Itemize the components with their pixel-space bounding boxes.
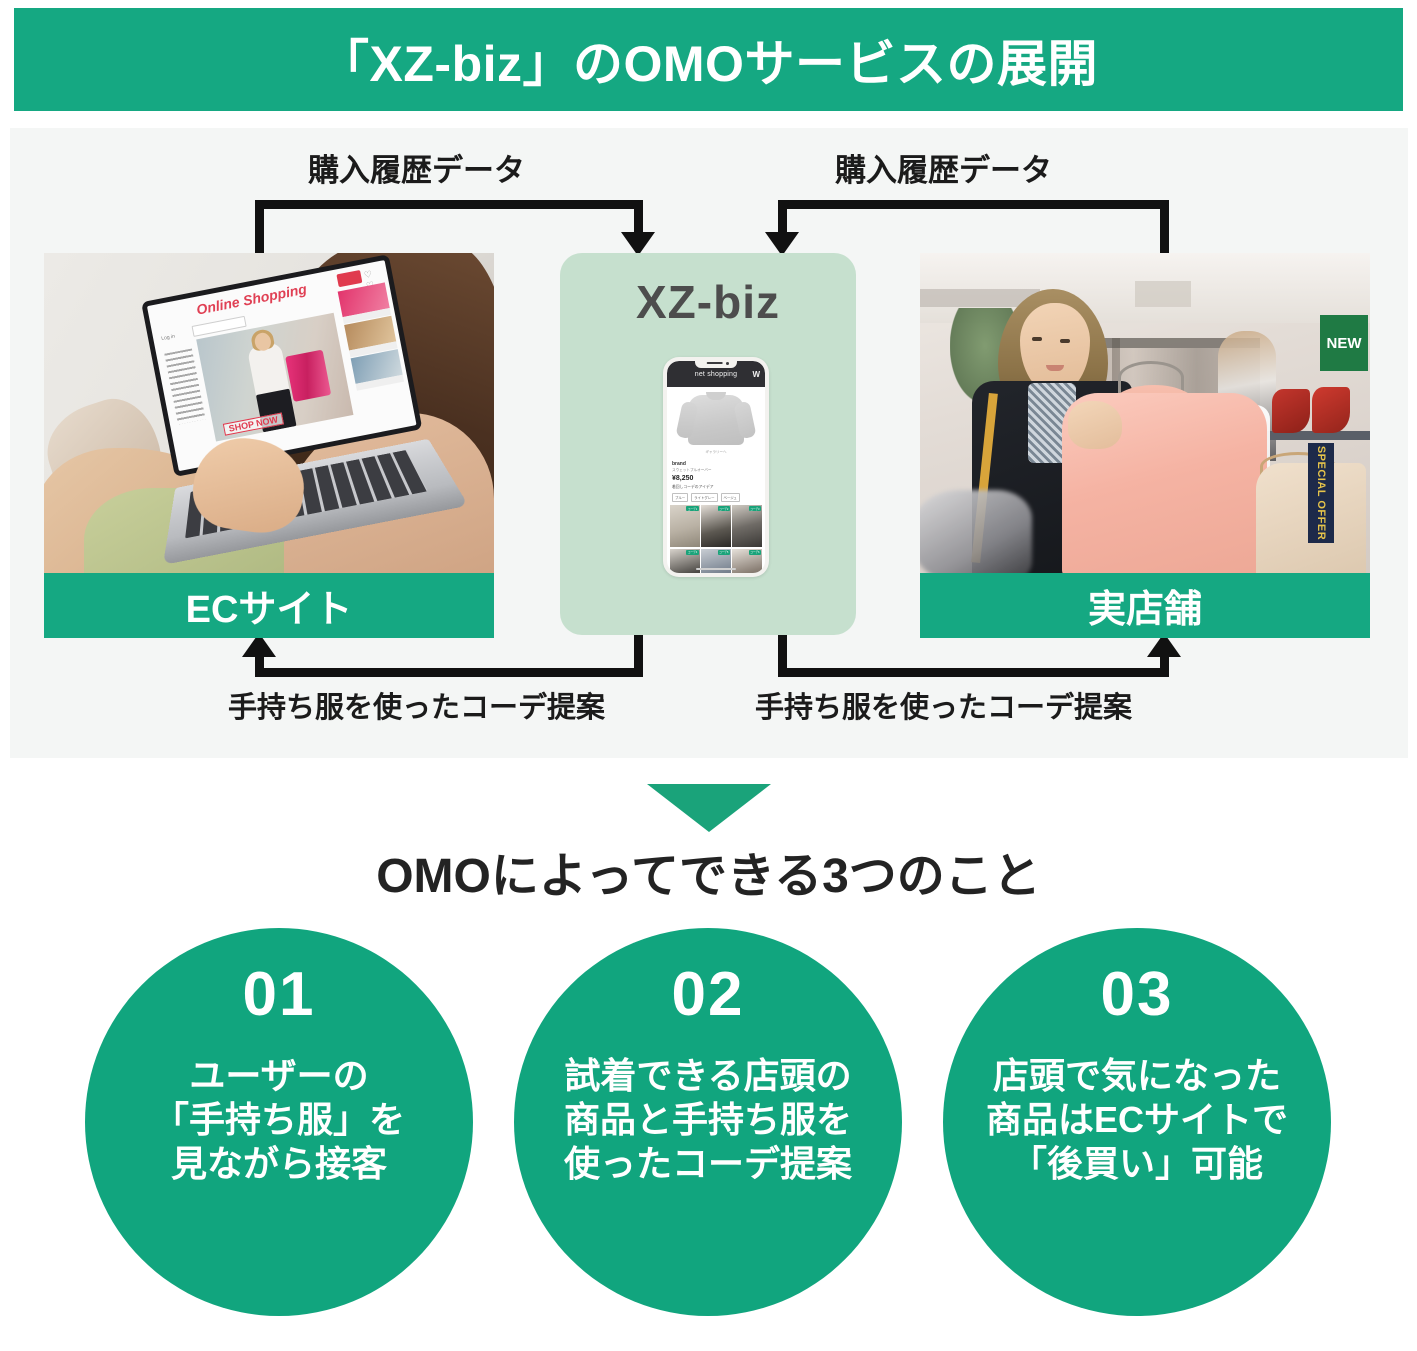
feature-text: 店頭で気になった 商品はECサイトで 「後買い」可能	[978, 1054, 1296, 1186]
coordinate-tile-tag: コーデ2	[718, 506, 730, 511]
laptop-mockup: Online Shopping ♡ ♡ Log in SHOP NOW	[141, 253, 491, 573]
flow-arrow-top-right-bar	[778, 200, 1169, 209]
feature-circle-01: 01 ユーザーの 「手持ち服」を 見ながら接客	[85, 928, 473, 1316]
phone-notch	[695, 361, 737, 368]
flow-arrow-bottom-left-bar	[255, 668, 643, 677]
product-brand: brand	[672, 461, 760, 467]
coordinate-tile-tag: コーデ5	[718, 550, 730, 555]
staff-eye-shape	[1032, 337, 1042, 341]
feature-text-line: 商品と手持ち服を	[564, 1098, 852, 1142]
staff-hand-shape	[1068, 401, 1122, 449]
header-band: 「XZ-biz」のOMOサービスの展開	[14, 8, 1403, 111]
red-heel-shoe	[1272, 389, 1310, 433]
wishlist-icon[interactable]: ♡ ♡	[363, 267, 385, 281]
shop-now-button[interactable]: SHOP NOW	[223, 413, 284, 436]
feature-text-line: ユーザーの	[153, 1054, 405, 1098]
shopping-bags-shape	[285, 350, 331, 402]
flow-label-top-right: 購入履歴データ	[835, 145, 1052, 190]
flow-arrow-top-left-bar	[255, 200, 643, 209]
feature-text-line: 使ったコーデ提案	[564, 1142, 852, 1186]
feature-text-line: 「後買い」可能	[986, 1142, 1288, 1186]
color-option-chip[interactable]: ブルー	[672, 493, 688, 502]
flow-arrow-bottom-left-rise	[255, 656, 264, 674]
page-title: 「XZ-biz」のOMOサービスの展開	[319, 24, 1098, 96]
coordinate-tile[interactable]: コーデ1	[670, 505, 700, 547]
feature-circle-02: 02 試着できる店頭の 商品と手持ち服を 使ったコーデ提案	[514, 928, 902, 1316]
product-info-block: brand スウェットプルオーバー ¥8,250 着回しコーデのアイデア ブルー…	[667, 459, 765, 502]
coordinate-tile-tag: コーデ4	[686, 550, 698, 555]
physical-store-label: 実店舗	[920, 573, 1370, 638]
coordinate-tile-tag: コーデ1	[686, 506, 698, 511]
coordinate-tile-tag: コーデ3	[749, 506, 761, 511]
hero-banner: SHOP NOW	[196, 313, 353, 442]
flow-arrow-bottom-right-rise	[1160, 656, 1169, 674]
feature-text: 試着できる店頭の 商品と手持ち服を 使ったコーデ提案	[556, 1054, 860, 1186]
feature-text-line: 見ながら接客	[153, 1142, 405, 1186]
phone-screen: net shopping W ギャラリーへ brand スウェットプルオーバー …	[667, 361, 765, 573]
diagram-panel: 購入履歴データ 購入履歴データ 手持ち服を使ったコーデ提案 手持ち服を使ったコー…	[10, 128, 1408, 758]
coordinate-photo-grid: コーデ1 コーデ2 コーデ3 コーデ4 コーデ5 コーデ6	[667, 502, 765, 573]
feature-number: 01	[243, 964, 316, 1026]
feature-text: ユーザーの 「手持ち服」を 見ながら接客	[145, 1054, 413, 1186]
down-triangle-icon	[647, 784, 771, 832]
phone-speaker	[707, 362, 723, 364]
ec-site-card: Online Shopping ♡ ♡ Log in SHOP NOW	[44, 253, 494, 638]
feature-text-line: 「手持ち服」を	[153, 1098, 405, 1142]
flow-label-bottom-right: 手持ち服を使ったコーデ提案	[755, 684, 1132, 726]
phone-home-indicator	[696, 568, 736, 570]
coordinate-tile[interactable]: コーデ2	[701, 505, 731, 547]
coordinate-tile[interactable]: コーデ6	[732, 549, 762, 574]
feature-text-line: 商品はECサイトで	[986, 1098, 1288, 1142]
flow-label-top-left: 購入履歴データ	[308, 145, 525, 190]
product-price: ¥8,250	[672, 475, 760, 482]
physical-store-photo: NEW SPECIAL OFFER	[920, 253, 1370, 573]
foreground-blur-shape	[920, 490, 1032, 573]
sweater-left-sleeve	[675, 401, 698, 440]
phone-mockup: net shopping W ギャラリーへ brand スウェットプルオーバー …	[663, 357, 769, 577]
product-image-caption: ギャラリーへ	[667, 450, 765, 455]
ec-site-label: ECサイト	[44, 573, 494, 638]
app-name-label: net shopping	[667, 371, 765, 378]
sweater-neck-shape	[706, 392, 726, 400]
coordinate-ideas-heading: 着回しコーデのアイデア	[672, 485, 760, 490]
ec-site-photo: Online Shopping ♡ ♡ Log in SHOP NOW	[44, 253, 494, 573]
section-title: OMOによってできる3つのこと	[0, 836, 1417, 906]
feature-text-line: 店頭で気になった	[986, 1054, 1288, 1098]
product-image-area: ギャラリーへ	[667, 387, 765, 459]
sweater-product-image	[688, 395, 744, 445]
feature-number: 03	[1101, 964, 1174, 1026]
feature-circle-03: 03 店頭で気になった 商品はECサイトで 「後買い」可能	[943, 928, 1331, 1316]
physical-store-card: NEW SPECIAL OFFER 実店舗	[920, 253, 1370, 638]
sweater-right-sleeve	[733, 401, 756, 440]
app-logo-icon: W	[752, 370, 760, 379]
color-option-chip[interactable]: ライトグレー	[691, 493, 717, 502]
color-option-chips: ブルー ライトグレー ベージュ	[672, 493, 760, 502]
flow-arrow-bottom-right-bar	[778, 668, 1169, 677]
feature-text-line: 試着できる店頭の	[564, 1054, 852, 1098]
staff-eye-shape	[1060, 339, 1070, 343]
phone-app-topbar: net shopping W	[667, 361, 765, 387]
new-sign: NEW	[1320, 315, 1368, 371]
special-offer-tag: SPECIAL OFFER	[1308, 443, 1334, 543]
product-name: スウェットプルオーバー	[672, 468, 760, 473]
red-heel-shoe	[1312, 387, 1350, 433]
coordinate-tile[interactable]: コーデ3	[732, 505, 762, 547]
xz-biz-title: XZ-biz	[560, 275, 856, 329]
feature-number: 02	[672, 964, 745, 1026]
color-option-chip[interactable]: ベージュ	[721, 493, 740, 502]
cart-icon[interactable]	[336, 270, 362, 287]
login-link[interactable]: Log in	[161, 334, 176, 342]
store-sign-backdrop	[1135, 281, 1191, 307]
special-offer-tag-label: SPECIAL OFFER	[1315, 446, 1327, 540]
coordinate-tile-tag: コーデ6	[749, 550, 761, 555]
flow-label-bottom-left: 手持ち服を使ったコーデ提案	[228, 684, 605, 726]
xz-biz-card: XZ-biz net shopping W	[560, 253, 856, 635]
phone-camera	[726, 362, 729, 365]
